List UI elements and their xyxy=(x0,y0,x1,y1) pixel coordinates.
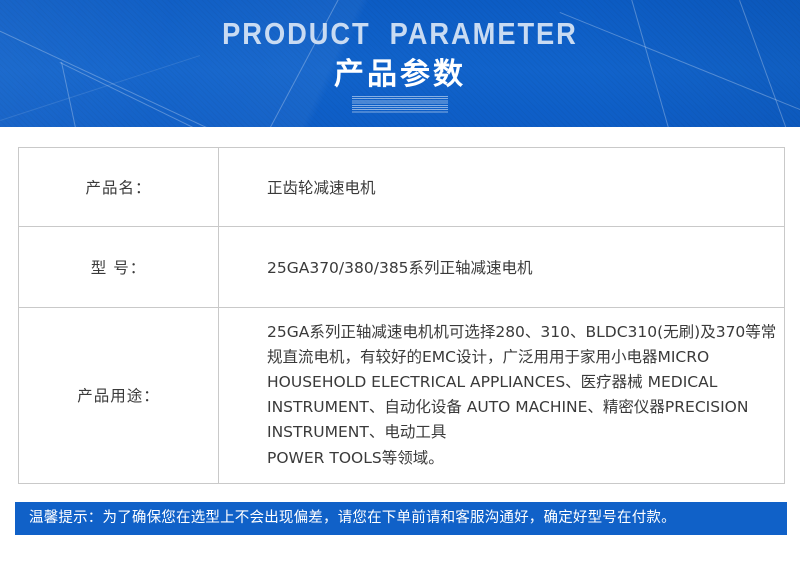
row-value-product-name: 正齿轮减速电机 xyxy=(219,148,785,227)
warm-tip-note: 温馨提示：为了确保您在选型上不会出现偏差，请您在下单前请和客服沟通好，确定好型号… xyxy=(15,502,787,535)
row-value-product-usage: 25GA系列正轴减速电机机可选择280、310、BLDC310(无刷)及370等… xyxy=(219,308,785,484)
parameter-table: 产品名： 正齿轮减速电机 型 号： 25GA370/380/385系列正轴减速电… xyxy=(18,147,785,484)
parameter-table-wrapper: 产品名： 正齿轮减速电机 型 号： 25GA370/380/385系列正轴减速电… xyxy=(18,147,785,484)
banner-content: PRODUCT PARAMETER 产品参数 xyxy=(0,0,800,113)
banner-stripe-decoration xyxy=(352,96,448,113)
table-row: 型 号： 25GA370/380/385系列正轴减速电机 xyxy=(19,227,785,308)
row-label-product-usage: 产品用途： xyxy=(19,308,219,484)
table-row: 产品名： 正齿轮减速电机 xyxy=(19,148,785,227)
table-row: 产品用途： 25GA系列正轴减速电机机可选择280、310、BLDC310(无刷… xyxy=(19,308,785,484)
row-label-product-name: 产品名： xyxy=(19,148,219,227)
row-value-model-number: 25GA370/380/385系列正轴减速电机 xyxy=(219,227,785,308)
row-label-model-number: 型 号： xyxy=(19,227,219,308)
banner-title-english: PRODUCT PARAMETER xyxy=(48,0,752,49)
banner-title-chinese: 产品参数 xyxy=(0,60,800,90)
page-banner: PRODUCT PARAMETER 产品参数 xyxy=(0,0,800,127)
